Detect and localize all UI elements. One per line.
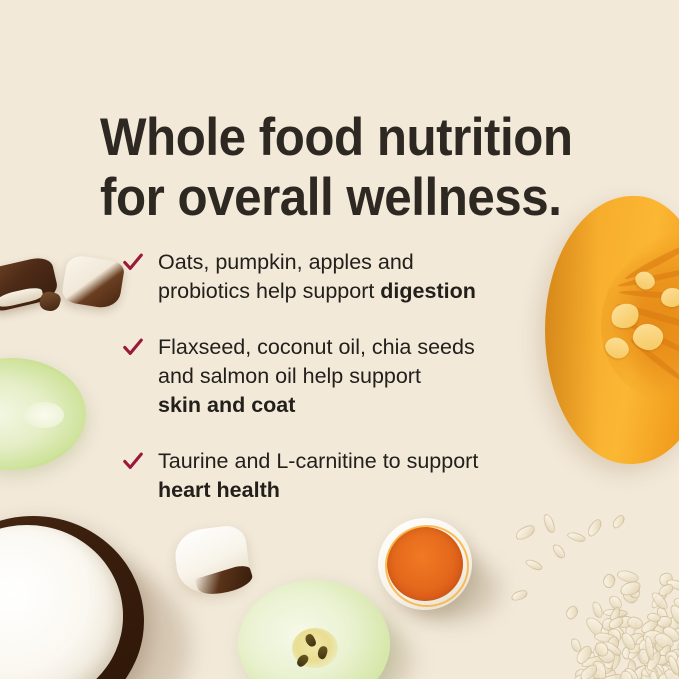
oat-flake xyxy=(610,513,627,531)
benefit-line: Flaxseed, coconut oil, chia seeds xyxy=(158,333,572,362)
check-icon xyxy=(122,251,144,273)
benefit-line: probiotics help support digestion xyxy=(158,277,572,306)
benefit-item-heart-health: Taurine and L-carnitine to supportheart … xyxy=(122,447,572,505)
oat-flake xyxy=(591,600,605,619)
apple-core xyxy=(24,402,64,428)
oat-flake xyxy=(510,588,529,602)
coconut-flesh xyxy=(0,286,44,309)
benefit-line: skin and coat xyxy=(158,391,572,420)
coconut-half-image xyxy=(0,516,144,679)
coconut-meat xyxy=(0,525,123,679)
coconut-chunk-image xyxy=(172,524,251,596)
salmon-oil-bowl-image xyxy=(378,518,472,610)
benefit-line: and salmon oil help support xyxy=(158,362,572,391)
benefit-emphasis: digestion xyxy=(380,279,476,303)
benefit-text: Oats, pumpkin, apples and xyxy=(158,250,414,274)
coconut-shell-shard-image xyxy=(61,254,126,310)
check-icon xyxy=(122,336,144,358)
benefit-item-digestion: Oats, pumpkin, apples andprobiotics help… xyxy=(122,248,572,306)
oat-flake xyxy=(602,572,618,589)
benefit-line: Taurine and L-carnitine to support xyxy=(158,447,572,476)
check-icon xyxy=(122,450,144,472)
oat-flake xyxy=(585,517,603,538)
benefit-item-skin-and-coat: Flaxseed, coconut oil, chia seedsand sal… xyxy=(122,333,572,420)
benefit-emphasis: skin and coat xyxy=(158,393,295,417)
page-title: Whole food nutrition for overall wellnes… xyxy=(100,108,584,228)
oat-flake xyxy=(566,530,586,543)
benefit-emphasis: heart health xyxy=(158,478,280,502)
benefit-text: Taurine and L-carnitine to support xyxy=(158,449,478,473)
coconut-husk xyxy=(195,563,255,600)
benefit-line: heart health xyxy=(158,476,572,505)
green-apple-slice-image xyxy=(0,358,86,470)
benefits-list: Oats, pumpkin, apples andprobiotics help… xyxy=(122,248,572,505)
benefit-text: probiotics help support xyxy=(158,279,380,303)
product-benefits-banner: Whole food nutrition for overall wellnes… xyxy=(0,0,679,679)
benefit-text: Flaxseed, coconut oil, chia seeds xyxy=(158,335,475,359)
oat-flake xyxy=(564,604,581,622)
headline-line-1: Whole food nutrition xyxy=(100,108,584,168)
oat-flake xyxy=(551,542,567,560)
green-apple-half-image xyxy=(238,580,390,679)
rolled-oats-pile-image xyxy=(511,517,679,679)
oat-flake xyxy=(541,513,557,535)
oat-flake xyxy=(524,557,544,572)
benefit-text: and salmon oil help support xyxy=(158,364,421,388)
oat-flake xyxy=(514,523,538,543)
bowl-rim xyxy=(385,525,469,607)
benefit-line: Oats, pumpkin, apples and xyxy=(158,248,572,277)
headline-line-2: for overall wellness. xyxy=(100,168,584,228)
